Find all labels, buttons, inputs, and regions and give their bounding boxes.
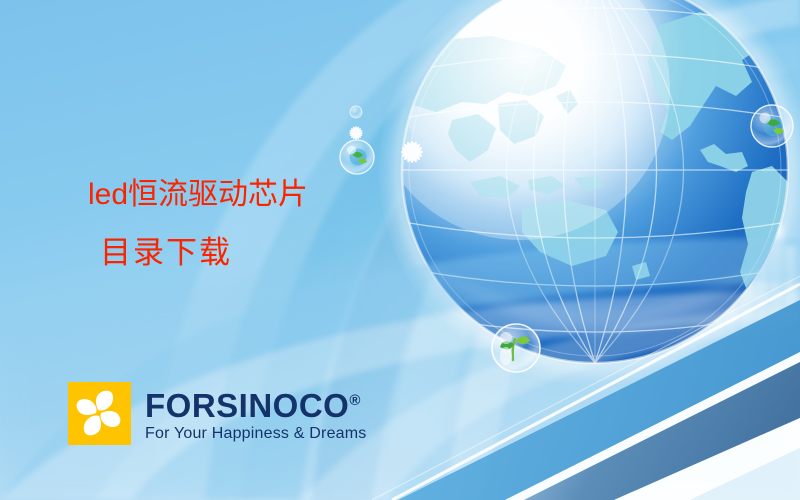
logo-text-block: FORSINOCO® For Your Happiness & Dreams [145, 384, 367, 444]
earth-globe-graphic [366, 0, 800, 386]
diagonal-bands [372, 276, 800, 500]
logo-wordmark: FORSINOCO® [145, 384, 367, 423]
bubble-with-sprout-icon [492, 324, 540, 372]
logo-tagline: For Your Happiness & Dreams [145, 424, 367, 444]
headline-line-1: led恒流驱动芯片 [88, 166, 418, 224]
headline-block: led恒流驱动芯片 目录下载 [88, 166, 418, 282]
promo-banner: led恒流驱动芯片 目录下载 FORSINOCO® For Your Happi… [0, 0, 800, 500]
company-logo[interactable]: FORSINOCO® For Your Happiness & Dreams [68, 382, 367, 445]
flower-sparkle-icon [349, 126, 423, 163]
city-skyline-silhouette [646, 202, 796, 338]
forsinoco-pinwheel-mark-icon [68, 382, 131, 445]
registered-trademark-symbol: ® [349, 392, 360, 409]
headline-line-2: 目录下载 [88, 224, 418, 282]
bubble-with-globe-right-icon [751, 105, 793, 147]
bubble-small-icon [350, 106, 362, 118]
logo-wordmark-text: FORSINOCO [145, 387, 349, 424]
